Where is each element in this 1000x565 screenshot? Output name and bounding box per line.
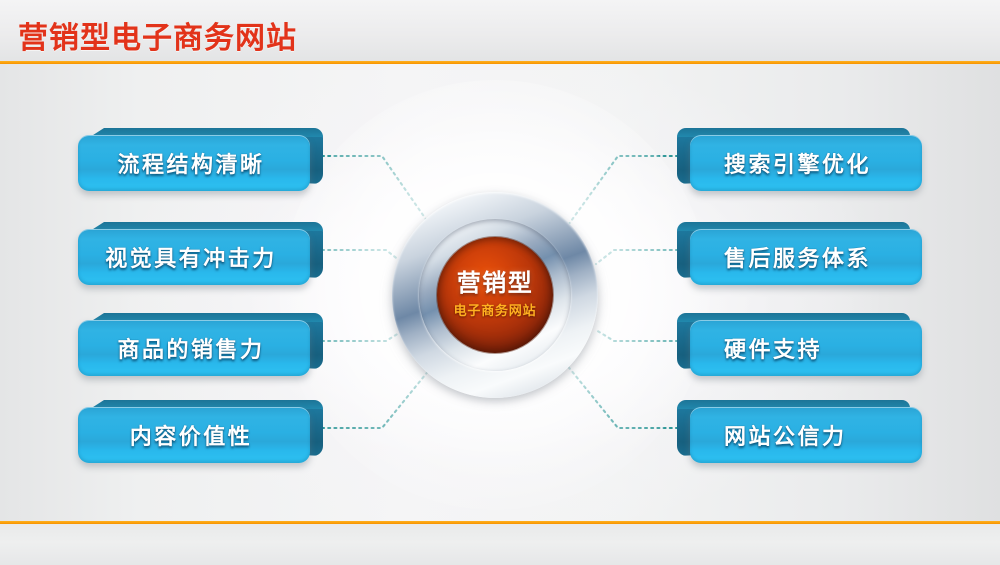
- node-right-1-label: 搜索引擎优化: [724, 147, 871, 179]
- page-title: 营销型电子商务网站: [18, 13, 297, 57]
- center-hub: 营销型 电子商务网站: [375, 175, 615, 415]
- footer-band: [0, 524, 1000, 565]
- node-left-4-face[interactable]: 内容价值性: [78, 407, 310, 463]
- node-left-3-face[interactable]: 商品的销售力: [78, 320, 310, 376]
- node-right-1-face[interactable]: 搜索引擎优化: [690, 135, 922, 191]
- node-right-2-label: 售后服务体系: [724, 241, 871, 273]
- node-right-4-label: 网站公信力: [724, 419, 847, 451]
- node-right-3-face[interactable]: 硬件支持: [690, 320, 922, 376]
- node-right-4-face[interactable]: 网站公信力: [690, 407, 922, 463]
- node-left-4-label: 内容价值性: [130, 419, 253, 451]
- hub-subtitle: 电子商务网站: [454, 300, 537, 319]
- node-right-3-label: 硬件支持: [724, 332, 822, 364]
- node-right-1[interactable]: 搜索引擎优化: [690, 135, 922, 191]
- node-left-3-label: 商品的销售力: [117, 332, 264, 364]
- node-right-2-face[interactable]: 售后服务体系: [690, 229, 922, 285]
- slide-canvas: 营销型电子商务网站 营销型 电子商务网站 流程结构清晰 视觉具有冲击: [0, 0, 1000, 565]
- node-left-1-face[interactable]: 流程结构清晰: [78, 135, 310, 191]
- hub-core-sphere: 营销型 电子商务网站: [437, 237, 553, 353]
- node-left-2[interactable]: 视觉具有冲击力: [78, 229, 310, 285]
- node-right-3[interactable]: 硬件支持: [690, 320, 922, 376]
- header-divider-rule: [0, 61, 1000, 64]
- node-left-2-label: 视觉具有冲击力: [105, 241, 277, 273]
- node-left-3[interactable]: 商品的销售力: [78, 320, 310, 376]
- hub-title: 营销型: [457, 271, 534, 296]
- node-left-2-face[interactable]: 视觉具有冲击力: [78, 229, 310, 285]
- node-left-1-label: 流程结构清晰: [117, 147, 264, 179]
- node-right-2[interactable]: 售后服务体系: [690, 229, 922, 285]
- node-right-4[interactable]: 网站公信力: [690, 407, 922, 463]
- node-left-4[interactable]: 内容价值性: [78, 407, 310, 463]
- node-left-1[interactable]: 流程结构清晰: [78, 135, 310, 191]
